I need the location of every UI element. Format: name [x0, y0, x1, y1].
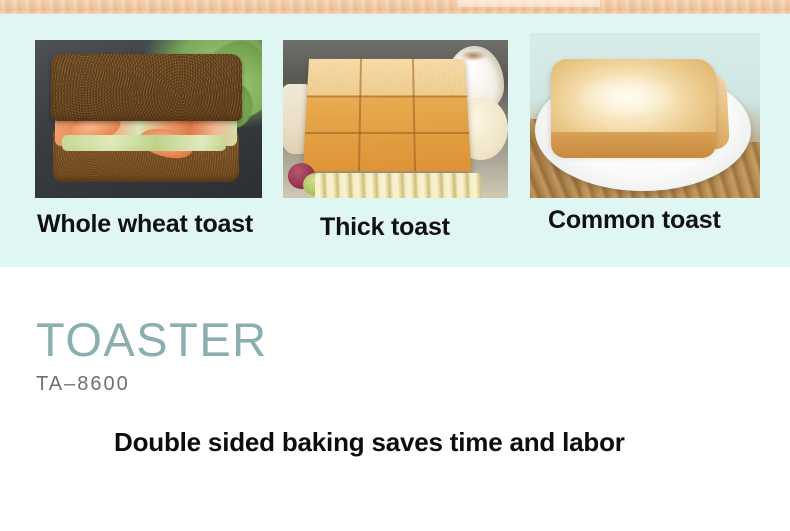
photo-whole-wheat-scene	[35, 40, 262, 198]
product-tagline: Double sided baking saves time and labor	[114, 427, 625, 458]
product-brand-block: TOASTER TA–8600	[36, 316, 268, 396]
photo-whole-wheat-toast	[35, 40, 262, 198]
caption-whole-wheat-toast: Whole wheat toast	[37, 210, 253, 239]
photo-thick-scene	[283, 40, 508, 198]
toast-cut-line	[306, 95, 466, 97]
thick-toast-block-shape	[302, 59, 470, 171]
toast-top-surface-shape	[306, 59, 466, 95]
vegetable-layer-shape	[62, 135, 225, 151]
photo-thick-toast	[283, 40, 508, 198]
banana-slices-shape	[315, 173, 482, 198]
toast-cut-line	[304, 132, 468, 134]
toast-crust-shape	[551, 132, 717, 158]
product-name: TOASTER	[36, 316, 268, 363]
caption-thick-toast: Thick toast	[320, 213, 450, 242]
photo-common-scene	[530, 33, 760, 198]
photo-common-toast	[530, 33, 760, 198]
top-wood-strip-decoration	[0, 0, 790, 14]
top-bread-slice-shape	[51, 54, 242, 120]
caption-common-toast: Common toast	[548, 206, 721, 235]
product-model-number: TA–8600	[36, 373, 268, 396]
